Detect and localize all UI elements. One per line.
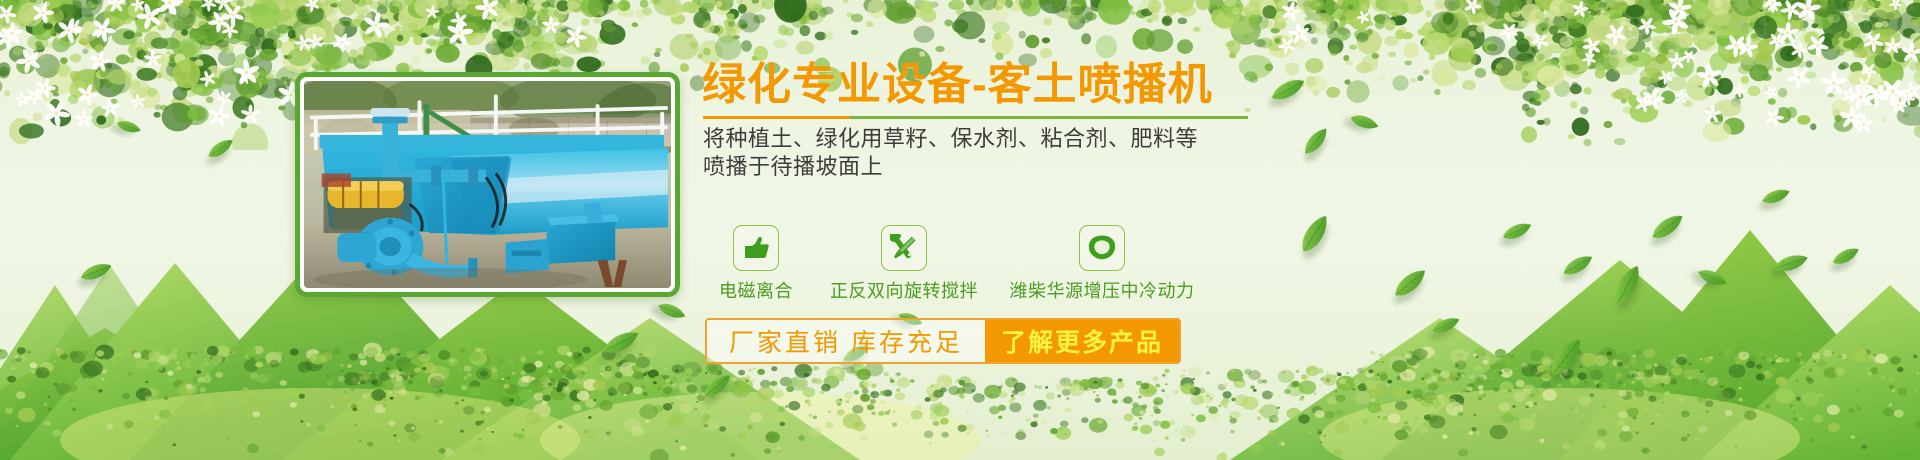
title-underline-rule (703, 116, 1248, 119)
cta-bar: 厂家直销 库存充足 了解更多产品 (705, 318, 1181, 364)
feature-label: 电磁离合 (703, 277, 809, 303)
cta-slogan: 厂家直销 库存充足 (707, 320, 985, 362)
feature-item-clutch[interactable]: 电磁离合 (703, 225, 809, 303)
hydroseeder-illustration (304, 81, 671, 288)
promo-banner: 绿化专业设备-客土喷播机 将种植土、绿化用草籽、保水剂、粘合剂、肥料等 喷播于待… (0, 0, 1920, 460)
banner-content: 绿化专业设备-客土喷播机 将种植土、绿化用草籽、保水剂、粘合剂、肥料等 喷播于待… (700, 60, 1300, 400)
subtitle-block: 将种植土、绿化用草籽、保水剂、粘合剂、肥料等 喷播于待播坡面上 (700, 125, 1300, 181)
subtitle-line-2: 喷播于待播坡面上 (700, 153, 1300, 181)
feature-label: 潍柴华源增压中冷动力 (993, 277, 1211, 303)
learn-more-button[interactable]: 了解更多产品 (985, 320, 1179, 362)
feature-label: 正反双向旋转搅拌 (815, 277, 993, 303)
subtitle-line-1: 将种植土、绿化用草籽、保水剂、粘合剂、肥料等 (700, 125, 1300, 153)
gear-glyph (1087, 234, 1117, 262)
page-title: 绿化专业设备-客土喷播机 (700, 60, 1300, 109)
wrench-screwdriver-icon (881, 225, 927, 271)
product-photo (304, 81, 671, 288)
wrench-screwdriver-glyph (890, 234, 918, 262)
feature-item-mixing[interactable]: 正反双向旋转搅拌 (815, 225, 993, 303)
feature-item-engine[interactable]: 潍柴华源增压中冷动力 (993, 225, 1211, 303)
gear-icon (1079, 225, 1125, 271)
thumbs-up-glyph (742, 235, 770, 261)
product-photo-card[interactable] (295, 72, 680, 297)
thumbs-up-icon (733, 225, 779, 271)
